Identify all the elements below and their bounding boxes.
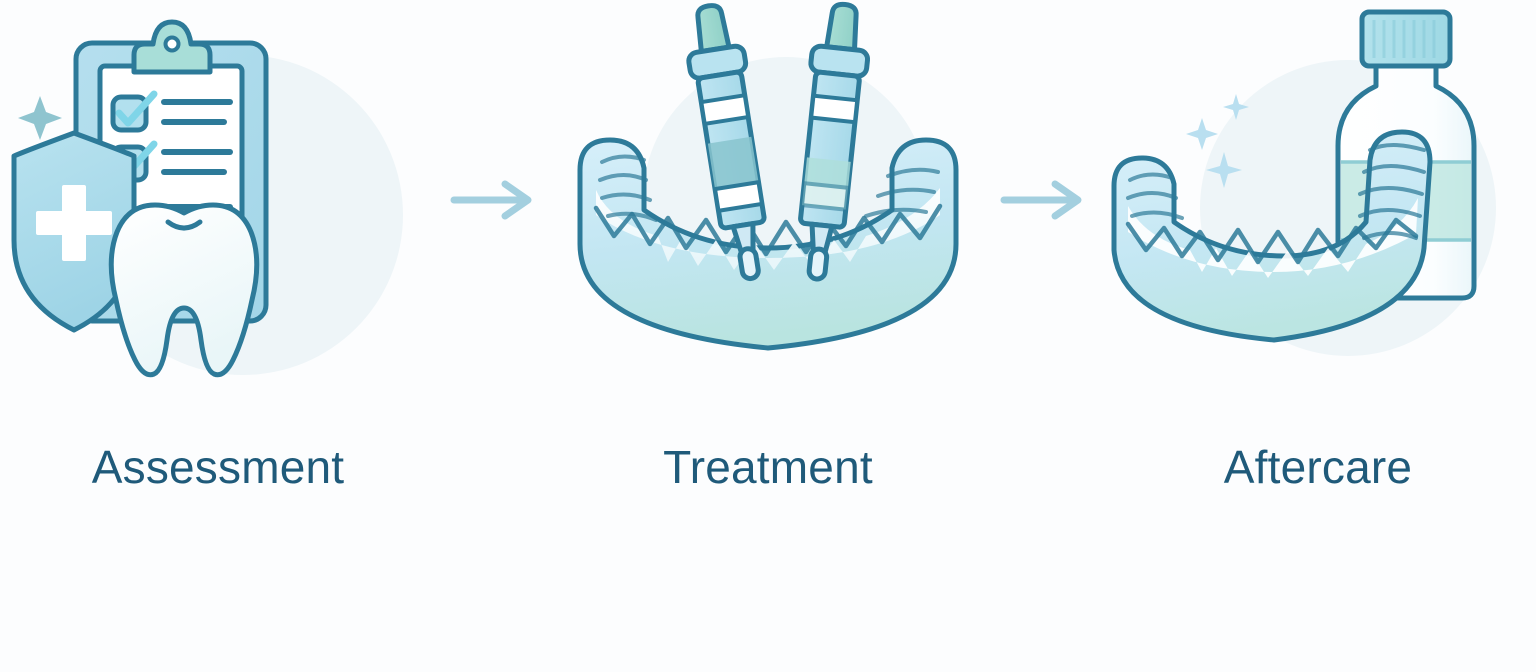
- arrow-right-icon: [448, 177, 538, 223]
- step-label-aftercare: Aftercare: [1224, 444, 1412, 490]
- sparkle-icon: [18, 96, 62, 140]
- process-step-treatment[interactable]: Treatment: [548, 0, 988, 540]
- assessment-illustration: [0, 0, 438, 400]
- step-label-assessment: Assessment: [92, 444, 345, 490]
- process-flow: Assessment: [0, 0, 1536, 672]
- flow-connector-2: [988, 0, 1098, 400]
- process-diagram-canvas: Assessment: [0, 0, 1536, 672]
- arrow-right-icon: [998, 177, 1088, 223]
- flow-connector-1: [438, 0, 548, 400]
- aftercare-illustration: [1098, 0, 1536, 400]
- treatment-illustration: [548, 0, 988, 400]
- checkbox-checked-icon: [113, 94, 154, 130]
- process-step-assessment[interactable]: Assessment: [0, 0, 438, 540]
- process-step-aftercare[interactable]: Aftercare: [1098, 0, 1536, 540]
- bottle-cap-ribs: [1374, 20, 1434, 58]
- step-label-treatment: Treatment: [663, 444, 873, 490]
